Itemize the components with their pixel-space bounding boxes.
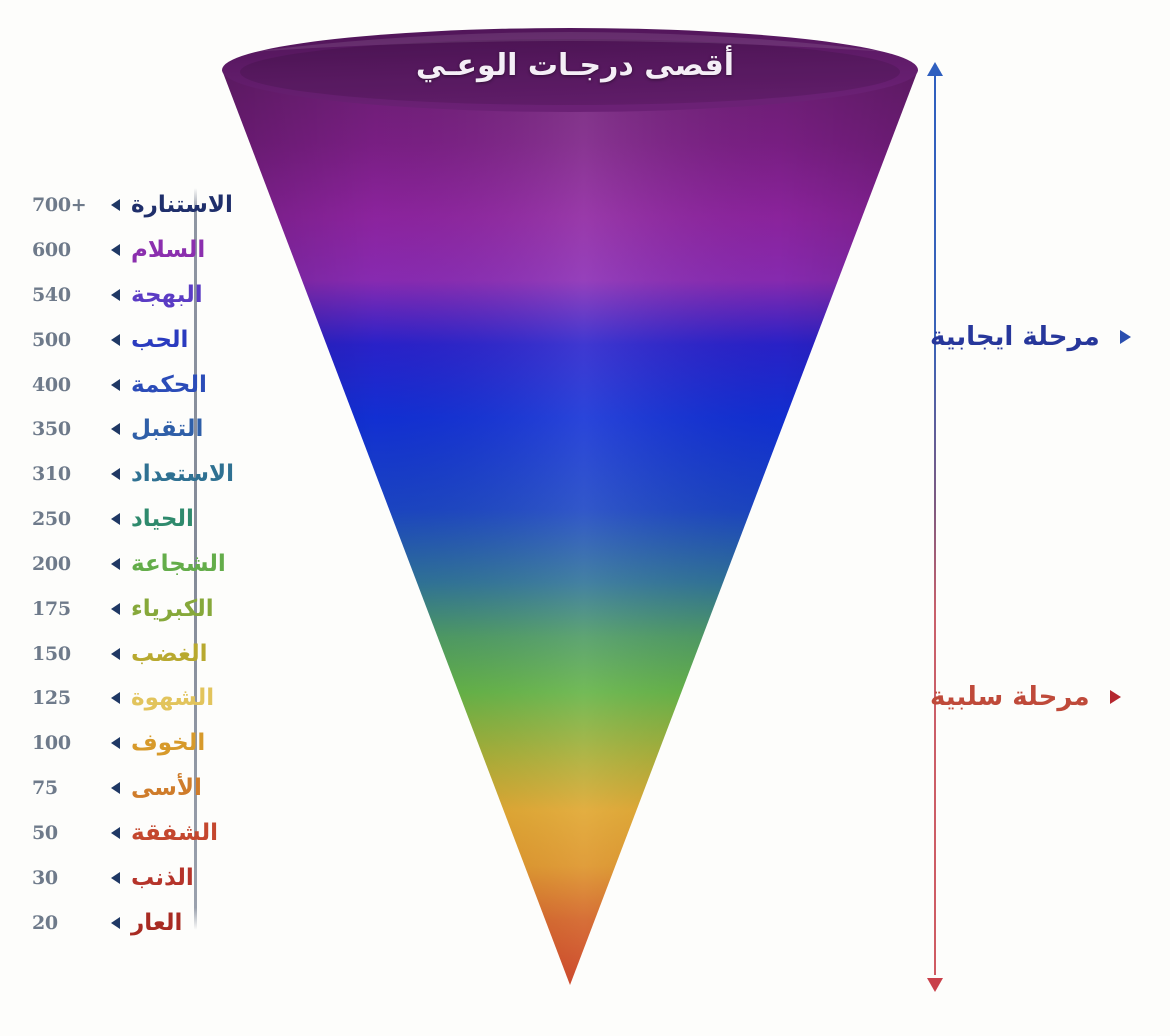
scale-value: 350 [20,418,105,440]
scale-value: 600 [20,239,105,261]
scale-tick-icon [105,289,125,301]
scale-label: الشجاعة [125,553,280,576]
scale-tick-icon [105,468,125,480]
scale-row-acceptance[interactable]: التقبل 350 [20,412,280,446]
scale-label: الحياد [125,508,280,531]
scale-label: الحكمة [125,374,280,397]
scale-row-enlightenment[interactable]: الاستنارة 700+ [20,188,280,222]
scale-tick-icon [105,603,125,615]
scale-value: 100 [20,732,105,754]
scale-tick-icon [105,782,125,794]
stage-axis: مرحلة ايجابية مرحلة سلبية [930,62,1170,992]
scale-row-reason[interactable]: الحكمة 400 [20,368,280,402]
scale-row-desire[interactable]: الشهوة 125 [20,681,280,715]
scale-tick-icon [105,737,125,749]
scale-row-willingness[interactable]: الاستعداد 310 [20,457,280,491]
consciousness-scale-infographic: أقصى درجـات الوعـي الاستنارة 700+ السلام… [0,0,1170,1036]
stage-positive[interactable]: مرحلة ايجابية [930,324,1131,350]
scale-tick-icon [105,558,125,570]
scale-row-neutrality[interactable]: الحياد 250 [20,502,280,536]
scale-row-joy[interactable]: البهجة 540 [20,278,280,312]
scale-value: 175 [20,598,105,620]
scale-value: 20 [20,912,105,934]
consciousness-scale: الاستنارة 700+ السلام 600 البهجة 540 الح… [20,180,280,940]
scale-tick-icon [105,199,125,211]
scale-label: التقبل [125,418,280,441]
stage-negative[interactable]: مرحلة سلبية [930,684,1121,710]
scale-value: 50 [20,822,105,844]
scale-row-anger[interactable]: الغضب 150 [20,637,280,671]
scale-value: 250 [20,508,105,530]
scale-label: العار [125,912,280,935]
stage-label: مرحلة سلبية [930,684,1090,710]
cone-title: أقصى درجـات الوعـي [230,48,920,83]
cone-body [222,70,918,985]
cone-top-ellipse [222,28,918,112]
scale-label: البهجة [125,284,280,307]
scale-row-love[interactable]: الحب 500 [20,323,280,357]
scale-tick-icon [105,334,125,346]
scale-row-fear[interactable]: الخوف 100 [20,726,280,760]
scale-value: 310 [20,463,105,485]
scale-tick-icon [105,379,125,391]
scale-value: 150 [20,643,105,665]
scale-row-shame[interactable]: العار 20 [20,906,280,940]
scale-label: الشهوة [125,687,280,710]
stage-axis-line [934,70,936,975]
scale-value: 400 [20,374,105,396]
scale-label: الخوف [125,732,280,755]
scale-row-pride[interactable]: الكبرياء 175 [20,592,280,626]
scale-value: 500 [20,329,105,351]
arrow-down-icon [927,978,943,992]
scale-tick-icon [105,872,125,884]
scale-label: الاستنارة [125,194,280,217]
scale-row-apathy[interactable]: الشفقة 50 [20,816,280,850]
scale-row-guilt[interactable]: الذنب 30 [20,861,280,895]
scale-value: 30 [20,867,105,889]
scale-label: الغضب [125,643,280,666]
scale-tick-icon [105,827,125,839]
scale-tick-icon [105,513,125,525]
scale-tick-icon [105,692,125,704]
scale-label: الكبرياء [125,598,280,621]
scale-label: السلام [125,239,280,262]
scale-tick-icon [105,423,125,435]
scale-row-courage[interactable]: الشجاعة 200 [20,547,280,581]
scale-value: 125 [20,687,105,709]
scale-value: 700+ [20,194,105,216]
scale-value: 540 [20,284,105,306]
scale-tick-icon [105,917,125,929]
scale-label: الشفقة [125,822,280,845]
scale-row-grief[interactable]: الأسى 75 [20,771,280,805]
scale-row-peace[interactable]: السلام 600 [20,233,280,267]
scale-value: 200 [20,553,105,575]
scale-tick-icon [105,648,125,660]
scale-label: الذنب [125,867,280,890]
scale-label: الأسى [125,777,280,800]
stage-marker-icon [1110,690,1121,704]
stage-label: مرحلة ايجابية [930,324,1100,350]
scale-label: الاستعداد [125,463,280,486]
scale-tick-icon [105,244,125,256]
scale-label: الحب [125,329,280,352]
stage-marker-icon [1120,330,1131,344]
scale-value: 75 [20,777,105,799]
